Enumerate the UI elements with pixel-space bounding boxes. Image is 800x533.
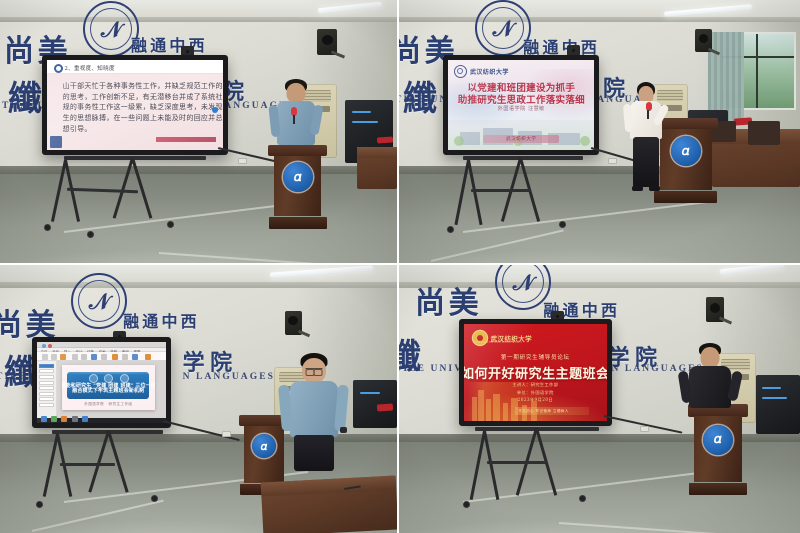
red-object bbox=[377, 136, 393, 143]
slide-university-logo: 武汉纺织大学 bbox=[454, 65, 509, 78]
slide-thumbnail[interactable] bbox=[39, 392, 54, 396]
lectern-body: 𝛼 bbox=[244, 426, 284, 484]
ribbon-icon[interactable] bbox=[60, 354, 66, 360]
seal-glyph: 𝒩 bbox=[89, 289, 110, 315]
equipment-rack bbox=[756, 375, 800, 434]
slide-corner-badge bbox=[50, 136, 62, 148]
whiteboard-stand-tray bbox=[64, 156, 207, 160]
tree-shape bbox=[454, 136, 464, 146]
taskbar[interactable] bbox=[37, 418, 166, 424]
ribbon-icon[interactable] bbox=[91, 354, 97, 360]
slide-thumbnail[interactable] bbox=[39, 369, 54, 373]
chair-back bbox=[748, 121, 780, 145]
lecture-room-scene: 𝒩 尚美 纖 融通中西 学院 TILE UNIVERSITY N LANGUAG… bbox=[399, 265, 800, 533]
building-shape bbox=[472, 397, 476, 421]
slide-footer-text: 武汉纺织大学 bbox=[506, 136, 536, 142]
lecture-room-scene: 𝒩 尚美 纖 融通中西 学院 TILE UNIVERSITY N LANGUAG… bbox=[399, 0, 800, 263]
wall-motto-rongtong: 融通中西 bbox=[123, 308, 200, 332]
wall-baseboard bbox=[0, 166, 397, 174]
seal-glyph: 𝒩 bbox=[101, 17, 122, 43]
whiteboard-screen: 2、重视度、知晓度 山干部天忙于各种事务性工作，并缺乏规范工作的理性 的思考，工… bbox=[47, 60, 224, 150]
slide-thumbnail[interactable] bbox=[39, 364, 54, 368]
emblem-glyph: 𝛼 bbox=[682, 145, 690, 158]
ribbon-icon[interactable] bbox=[72, 354, 78, 360]
stand-caster bbox=[36, 501, 43, 508]
emblem-glyph: 𝛼 bbox=[294, 171, 302, 184]
presenter-person bbox=[282, 353, 346, 498]
slide-canvas[interactable]: 赋能和研究生 "党建 团建 班建" 三位一体 融合模式下牢筑主题班会新机制 外国… bbox=[57, 361, 165, 417]
taskbar-icon[interactable] bbox=[61, 416, 67, 422]
university-emblem-icon: 𝛼 bbox=[703, 425, 733, 455]
slide-subtitle: 外国语学院 汪慧敏 bbox=[498, 105, 545, 112]
wall-outlet bbox=[222, 431, 231, 437]
head bbox=[286, 83, 305, 103]
university-emblem-icon: 𝛼 bbox=[252, 434, 276, 458]
slide-thumbnail[interactable] bbox=[39, 397, 54, 401]
ribbon-toolbar[interactable] bbox=[37, 352, 166, 361]
slide-nav-dot[interactable] bbox=[212, 107, 218, 113]
ribbon-icon[interactable] bbox=[42, 354, 48, 360]
floor-reflection bbox=[399, 174, 800, 263]
whiteboard-screen: 武汉纺织大学 WUHAN TEXTILE UNIVERSITY 第一期研究生辅导… bbox=[464, 324, 606, 421]
tree-shape bbox=[580, 136, 590, 146]
building-shape bbox=[478, 390, 483, 421]
university-emblem-icon: 𝛼 bbox=[283, 162, 313, 192]
ribbon-icon[interactable] bbox=[112, 354, 118, 360]
ribbon-icon[interactable] bbox=[81, 354, 87, 360]
collage-panel-bottom-left: 𝒩 尚美 纖 融通中西 学院 TILE UNIVERSITY N LANGUAG… bbox=[0, 265, 399, 533]
collage-panel-bottom-right: 𝒩 尚美 纖 融通中西 学院 TILE UNIVERSITY N LANGUAG… bbox=[399, 265, 800, 533]
slide-body-line: 规的事务性工作这一级累，缺乏深度思考，未发现掌握研究 bbox=[63, 102, 224, 112]
seal-glyph: 𝒩 bbox=[493, 16, 514, 42]
slide-body-line: 山干部天忙于各种事务性工作，并缺乏规范工作的理性 bbox=[63, 81, 224, 91]
whiteboard-stand-tray bbox=[463, 156, 583, 160]
lectern-body: 𝛼 bbox=[274, 156, 321, 217]
rack-led bbox=[352, 111, 371, 113]
slide-title-banner: 赋能和研究生 "党建 团建 班建" 三位一体 融合模式下牢筑主题班会新机制 bbox=[67, 372, 149, 398]
bullet-icon bbox=[54, 64, 63, 73]
torso-shirt bbox=[290, 381, 338, 437]
taskbar-icon[interactable] bbox=[72, 416, 78, 422]
ribbon-icon[interactable] bbox=[51, 354, 57, 360]
head bbox=[700, 347, 719, 368]
stand-crossbar bbox=[60, 463, 116, 466]
microphone-icon bbox=[291, 107, 297, 116]
lectern: 𝛼 bbox=[272, 145, 324, 229]
stand-crossbar bbox=[471, 189, 531, 192]
ribbon-icon[interactable] bbox=[122, 354, 128, 360]
emblem-glyph: 𝛼 bbox=[714, 433, 722, 446]
torso-shirt bbox=[689, 366, 731, 408]
wall-outlet bbox=[238, 158, 247, 164]
wall-motto-xian: 纖 bbox=[8, 71, 46, 120]
whiteboard-screen: 文件 开始 插入 设计 切换 动画 放映 审阅 视图 bbox=[37, 342, 166, 423]
slide-thumbnail[interactable] bbox=[39, 375, 54, 379]
wall-outlet bbox=[640, 426, 649, 432]
slide-title-red: 武汉纺织大学 WUHAN TEXTILE UNIVERSITY 第一期研究生辅导… bbox=[464, 324, 606, 421]
photo-collage: 𝒩 尚美 纖 融通中西 学院 TILE UNIVERSITY N LANGUAG… bbox=[0, 0, 800, 533]
rack-led bbox=[352, 121, 378, 123]
stand-caster bbox=[167, 221, 174, 228]
lecture-room-scene: 𝒩 尚美 纖 融通中西 学院 TILE UNIVERSITY N LANGUAG… bbox=[0, 265, 397, 533]
building-shape bbox=[493, 394, 499, 421]
wall-outlet bbox=[608, 158, 617, 164]
slide-footer-mark bbox=[156, 137, 216, 142]
shoe bbox=[632, 186, 643, 191]
building-shape bbox=[503, 403, 507, 420]
emblem-glyph: 𝛼 bbox=[261, 441, 267, 452]
collage-panel-top-left: 𝒩 尚美 纖 融通中西 学院 TILE UNIVERSITY N LANGUAG… bbox=[0, 0, 399, 265]
lecture-room-scene: 𝒩 尚美 纖 融通中西 学院 TILE UNIVERSITY N LANGUAG… bbox=[0, 0, 397, 263]
stand-caster bbox=[44, 224, 51, 231]
whiteboard-screen: 武汉纺织大学 以党建和班团建设为抓手 助推研究生思政工作落实落细 外国语学院 汪… bbox=[448, 60, 594, 150]
window-mullion bbox=[756, 34, 758, 109]
window-curtain bbox=[708, 32, 744, 121]
slide-title-line2: 融合模式下牢筑主题班会新机制 bbox=[72, 387, 144, 394]
presenter-person bbox=[622, 82, 670, 206]
wristwatch-icon bbox=[340, 427, 347, 433]
slide-thumbnail[interactable] bbox=[39, 381, 54, 385]
stand-crossbar bbox=[487, 461, 547, 464]
legs-trousers bbox=[633, 137, 659, 187]
wall-english-right: N LANGUAGES bbox=[183, 372, 275, 382]
seal-glyph: 𝒩 bbox=[513, 270, 534, 296]
slide-document: 2、重视度、知晓度 山干部天忙于各种事务性工作，并缺乏规范工作的理性 的思考，工… bbox=[47, 60, 224, 150]
taskbar-icon[interactable] bbox=[51, 416, 57, 422]
slide-title: 如何开好研究生主题班会 bbox=[464, 363, 606, 382]
interactive-whiteboard[interactable]: 2、重视度、知晓度 山干部天忙于各种事务性工作，并缺乏规范工作的理性 的思考，工… bbox=[42, 55, 229, 155]
logo-ring-icon bbox=[454, 65, 467, 78]
lectern-base bbox=[269, 217, 327, 229]
rack-led bbox=[360, 392, 380, 394]
legs-trousers bbox=[294, 435, 334, 471]
ribbon-icon[interactable] bbox=[145, 354, 151, 360]
microphone-icon bbox=[646, 102, 652, 111]
slide-pretitle: 第一期研究生辅导员论坛 bbox=[501, 353, 570, 361]
logo-text: 武汉纺织大学 bbox=[470, 67, 509, 76]
glasses-icon bbox=[305, 368, 322, 373]
slide-title-pastel: 武汉纺织大学 以党建和班团建设为抓手 助推研究生思政工作落实落细 外国语学院 汪… bbox=[448, 60, 594, 150]
slide-header-text: 2、重视度、知晓度 bbox=[64, 64, 114, 72]
lectern-base bbox=[689, 483, 747, 496]
slide-body-line: 的思考，工作创新不足，有无潜移台并成了系统社会，只是 bbox=[63, 92, 224, 102]
ribbon-icon[interactable] bbox=[101, 354, 107, 360]
presenter-person bbox=[680, 343, 740, 423]
active-slide[interactable]: 赋能和研究生 "党建 团建 班建" 三位一体 融合模式下牢筑主题班会新机制 外国… bbox=[62, 365, 155, 410]
interactive-whiteboard[interactable]: 武汉纺织大学 以党建和班团建设为抓手 助推研究生思政工作落实落细 外国语学院 汪… bbox=[443, 55, 599, 155]
logo-subtext: WUHAN TEXTILE UNIVERSITY bbox=[473, 340, 523, 344]
interactive-whiteboard[interactable]: 武汉纺织大学 WUHAN TEXTILE UNIVERSITY 第一期研究生辅导… bbox=[459, 319, 611, 426]
ribbon-icon[interactable] bbox=[132, 354, 138, 360]
slide-title-line2: 助推研究生思政工作落实落细 bbox=[458, 92, 585, 106]
presenter-person bbox=[268, 79, 324, 153]
slide-footer-text: 外国语学院 · 研究生工作组 bbox=[84, 402, 132, 407]
slide-thumbnail-pane[interactable] bbox=[37, 361, 58, 417]
collage-panel-top-right: 𝒩 尚美 纖 融通中西 学院 TILE UNIVERSITY N LANGUAG… bbox=[399, 0, 800, 265]
lectern-body: 𝛼 bbox=[694, 416, 742, 482]
taskbar-icon[interactable] bbox=[41, 416, 47, 422]
shoe bbox=[649, 186, 660, 191]
slide-body-line: 想引导。 bbox=[63, 124, 92, 134]
rack-led bbox=[762, 387, 781, 389]
taskbar-icon[interactable] bbox=[82, 416, 88, 422]
rack-led bbox=[762, 397, 787, 399]
wall-motto-rongtong: 融通中西 bbox=[131, 32, 208, 56]
side-desk bbox=[357, 147, 397, 189]
slide-body-line: 生的思想脉搏，在一些问题上未能及时的回应并总体进行 bbox=[63, 113, 224, 123]
university-emblem-icon: 𝛼 bbox=[671, 136, 701, 166]
slide-thumbnail[interactable] bbox=[39, 403, 54, 407]
camera-icon bbox=[567, 45, 580, 56]
slide-footer-text: 不忘初心 牢记使命 立德树人 bbox=[518, 409, 568, 414]
powerpoint-window[interactable]: 文件 开始 插入 设计 切换 动画 放映 审阅 视图 bbox=[37, 342, 166, 423]
slide-thumbnail[interactable] bbox=[39, 386, 54, 390]
building-shape bbox=[486, 399, 490, 420]
desk-top bbox=[357, 147, 397, 158]
stand-caster bbox=[463, 501, 470, 508]
wall-motto-shangmei: 尚美 bbox=[415, 278, 482, 322]
interactive-whiteboard[interactable]: 文件 开始 插入 设计 切换 动画 放映 审阅 视图 bbox=[32, 337, 171, 428]
